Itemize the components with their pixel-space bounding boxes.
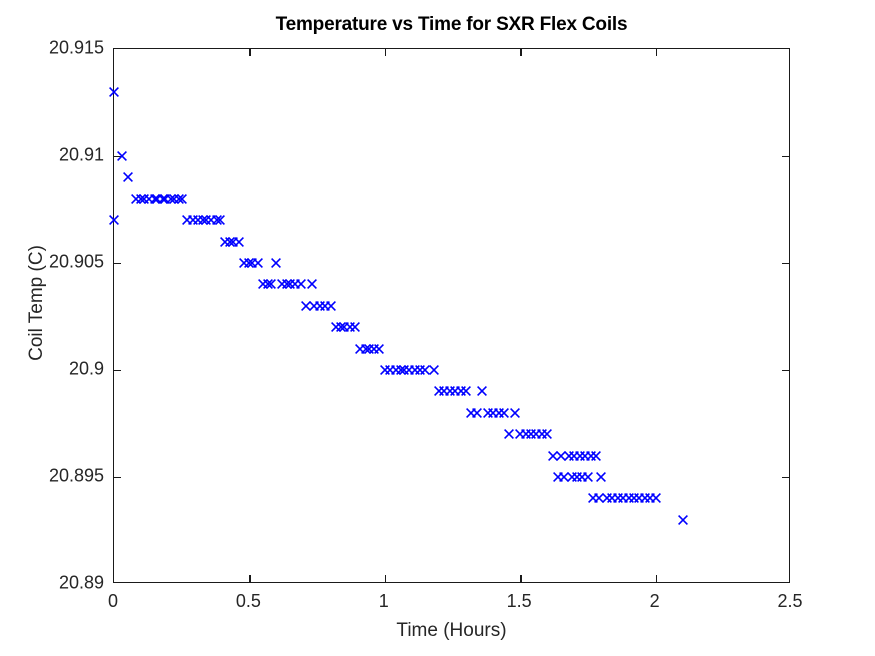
data-point-marker: [449, 385, 461, 397]
data-point-marker: [558, 471, 570, 483]
data-point-marker: [173, 193, 185, 205]
y-tick-mark: [114, 477, 121, 478]
data-point-marker: [419, 364, 431, 376]
data-point-marker: [576, 471, 588, 483]
data-point-marker: [181, 214, 193, 226]
data-point-marker: [262, 278, 274, 290]
data-point-marker: [130, 193, 142, 205]
data-point-marker: [428, 364, 440, 376]
x-tick-mark: [385, 49, 386, 56]
data-point-marker: [354, 343, 366, 355]
x-tick-mark: [656, 49, 657, 56]
data-point-marker: [582, 471, 594, 483]
data-point-marker: [574, 450, 586, 462]
y-tick-mark: [114, 370, 121, 371]
data-point-marker: [284, 278, 296, 290]
data-point-marker: [238, 257, 250, 269]
data-point-marker: [205, 214, 217, 226]
data-point-marker: [536, 428, 548, 440]
data-point-marker: [276, 278, 288, 290]
data-point-marker: [149, 193, 161, 205]
data-point-marker: [330, 321, 342, 333]
data-point-marker: [138, 193, 150, 205]
y-tick-label: 20.895: [0, 466, 104, 487]
data-point-marker: [503, 428, 515, 440]
data-point-marker: [595, 471, 607, 483]
data-point-marker: [335, 321, 347, 333]
data-point-marker: [617, 492, 629, 504]
data-point-marker: [243, 257, 255, 269]
data-point-marker: [379, 364, 391, 376]
data-point-marker: [159, 193, 171, 205]
data-point-marker: [514, 428, 526, 440]
data-point-marker: [395, 364, 407, 376]
data-point-marker: [587, 492, 599, 504]
data-point-marker: [308, 300, 320, 312]
data-point-marker: [677, 514, 689, 526]
data-point-marker: [295, 278, 307, 290]
data-point-marker: [590, 450, 602, 462]
y-tick-label: 20.915: [0, 38, 104, 59]
data-point-marker: [265, 278, 277, 290]
data-point-marker: [151, 193, 163, 205]
data-point-marker: [165, 193, 177, 205]
data-point-marker: [476, 385, 488, 397]
data-point-marker: [541, 428, 553, 440]
data-point-marker: [487, 407, 499, 419]
data-point-marker: [270, 257, 282, 269]
data-point-marker: [465, 407, 477, 419]
data-point-marker: [509, 407, 521, 419]
data-point-marker: [438, 385, 450, 397]
y-tick-mark: [782, 477, 789, 478]
data-point-marker: [628, 492, 640, 504]
data-point-marker: [281, 278, 293, 290]
data-point-marker: [471, 407, 483, 419]
data-point-marker: [525, 428, 537, 440]
data-point-marker: [555, 450, 567, 462]
data-point-marker: [493, 407, 505, 419]
data-point-marker: [349, 321, 361, 333]
x-tick-label: 2.5: [777, 591, 802, 612]
x-tick-mark: [249, 49, 250, 56]
data-point-marker: [593, 492, 605, 504]
data-point-marker: [306, 278, 318, 290]
data-point-marker: [409, 364, 421, 376]
data-point-marker: [433, 385, 445, 397]
data-point-marker: [398, 364, 410, 376]
y-tick-mark: [782, 156, 789, 157]
data-point-marker: [200, 214, 212, 226]
y-tick-label: 20.9: [0, 359, 104, 380]
data-point-marker: [219, 236, 231, 248]
data-point-marker: [460, 385, 472, 397]
data-point-marker: [650, 492, 662, 504]
data-point-marker: [482, 407, 494, 419]
data-point-marker: [233, 236, 245, 248]
y-tick-mark: [782, 263, 789, 264]
data-point-marker: [547, 450, 559, 462]
data-point-marker: [455, 385, 467, 397]
data-point-marker: [368, 343, 380, 355]
data-point-marker: [639, 492, 651, 504]
y-tick-label: 20.89: [0, 573, 104, 594]
data-point-marker: [319, 300, 331, 312]
data-point-marker: [585, 450, 597, 462]
data-point-marker: [176, 193, 188, 205]
x-tick-label: 2: [650, 591, 660, 612]
data-point-marker: [384, 364, 396, 376]
data-point-marker: [257, 278, 269, 290]
data-point-marker: [214, 214, 226, 226]
data-point-marker: [197, 214, 209, 226]
data-point-marker: [157, 193, 169, 205]
chart-title: Temperature vs Time for SXR Flex Coils: [113, 14, 790, 36]
data-point-marker: [135, 193, 147, 205]
plot-area[interactable]: [113, 48, 790, 583]
x-tick-mark: [656, 575, 657, 582]
data-point-marker: [246, 257, 258, 269]
data-point-marker: [498, 407, 510, 419]
x-tick-label: 0.5: [236, 591, 261, 612]
y-axis-label: Coil Temp (C): [26, 203, 48, 403]
x-tick-mark: [385, 575, 386, 582]
data-point-marker: [168, 193, 180, 205]
x-tick-label: 1: [379, 591, 389, 612]
y-tick-label: 20.91: [0, 145, 104, 166]
data-point-marker: [108, 86, 120, 98]
data-point-marker: [563, 450, 575, 462]
data-point-marker: [360, 343, 372, 355]
data-point-marker: [300, 300, 312, 312]
x-tick-mark: [249, 575, 250, 582]
data-point-marker: [211, 214, 223, 226]
data-point-marker: [566, 471, 578, 483]
data-point-marker: [289, 278, 301, 290]
data-point-marker: [363, 343, 375, 355]
x-tick-label: 0: [108, 591, 118, 612]
data-point-marker: [108, 214, 120, 226]
data-point-marker: [414, 364, 426, 376]
data-point-marker: [224, 236, 236, 248]
data-point-marker: [530, 428, 542, 440]
data-point-marker: [338, 321, 350, 333]
data-point-marker: [192, 214, 204, 226]
data-point-marker: [143, 193, 155, 205]
y-tick-mark: [114, 156, 121, 157]
y-tick-mark: [782, 370, 789, 371]
x-tick-label: 1.5: [507, 591, 532, 612]
data-point-marker: [390, 364, 402, 376]
y-tick-label: 20.905: [0, 252, 104, 273]
data-point-marker: [552, 471, 564, 483]
data-point-marker: [601, 492, 613, 504]
data-point-marker: [444, 385, 456, 397]
data-point-marker: [633, 492, 645, 504]
x-axis-label: Time (Hours): [113, 620, 790, 642]
y-tick-mark: [114, 263, 121, 264]
x-tick-mark: [520, 575, 521, 582]
data-point-marker: [612, 492, 624, 504]
data-point-marker: [187, 214, 199, 226]
data-point-marker: [568, 450, 580, 462]
data-point-marker: [314, 300, 326, 312]
data-point-marker: [252, 257, 264, 269]
data-point-marker: [644, 492, 656, 504]
data-point-marker: [579, 450, 591, 462]
data-point-marker: [344, 321, 356, 333]
data-point-marker: [403, 364, 415, 376]
figure-canvas: Temperature vs Time for SXR Flex Coils 0…: [0, 0, 875, 656]
data-point-marker: [623, 492, 635, 504]
data-point-marker: [606, 492, 618, 504]
data-point-marker: [227, 236, 239, 248]
data-point-marker: [571, 471, 583, 483]
data-point-marker: [520, 428, 532, 440]
data-point-marker: [373, 343, 385, 355]
data-point-marker: [325, 300, 337, 312]
x-tick-mark: [520, 49, 521, 56]
data-point-marker: [122, 171, 134, 183]
